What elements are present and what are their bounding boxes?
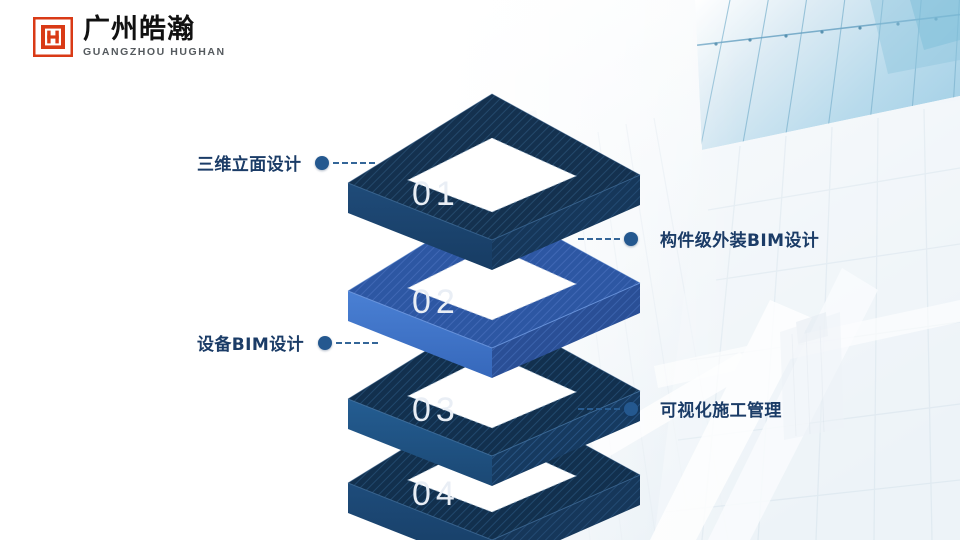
hughan-square-h-mark-icon <box>33 17 73 57</box>
logo-chinese-name: 广州皓瀚 <box>83 16 226 43</box>
callout-dot-icon-02 <box>624 232 638 246</box>
logo-english-name: GUANGZHOU HUGHAN <box>83 47 226 58</box>
callout-dot-icon-04 <box>624 402 638 416</box>
callout-dash-line-03 <box>336 342 378 344</box>
callout-03[interactable]: 设备BIM设计 <box>197 330 378 355</box>
callout-dash-line-04 <box>578 408 620 410</box>
callout-dash-line-01 <box>333 162 375 164</box>
callout-04[interactable]: 可视化施工管理 <box>578 396 782 421</box>
callout-label-02: 构件级外装BIM设计 <box>660 226 819 251</box>
callout-dot-icon-03 <box>318 336 332 350</box>
company-logo: 广州皓瀚 GUANGZHOU HUGHAN <box>33 16 226 58</box>
isometric-layer-stack: 01 <box>340 80 660 500</box>
callout-label-01: 三维立面设计 <box>197 150 301 175</box>
callout-dot-icon-01 <box>315 156 329 170</box>
callout-label-04: 可视化施工管理 <box>660 396 782 421</box>
callout-02[interactable]: 构件级外装BIM设计 <box>578 226 819 251</box>
callout-label-03: 设备BIM设计 <box>197 330 304 355</box>
callout-01[interactable]: 三维立面设计 <box>197 150 375 175</box>
callout-dash-line-02 <box>578 238 620 240</box>
slide-canvas: 广州皓瀚 GUANGZHOU HUGHAN <box>0 0 960 540</box>
